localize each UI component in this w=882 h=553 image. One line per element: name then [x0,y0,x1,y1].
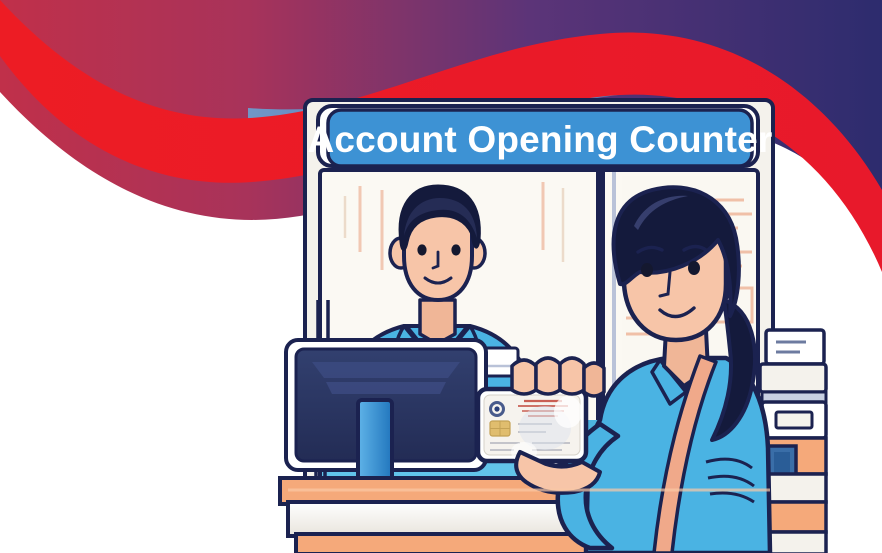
signboard-title: Account Opening Counter [307,119,772,160]
national-id-card [478,389,586,462]
teller-eye-right [451,244,460,255]
id-emblem-icon [489,401,505,417]
customer-fingers [512,358,604,396]
monitor-back-ridge-2 [326,382,446,394]
scene-svg: Account Opening Counter [0,0,882,553]
illustration-canvas: Account Opening Counter [0,0,882,553]
customer-eye-right [688,261,700,275]
teller-neck [420,300,455,344]
teller-eye-left [417,244,426,255]
monitor-stand [358,400,392,486]
monitor-back-ridge [312,362,460,378]
customer-eye-left [641,263,653,277]
id-glare [554,396,582,428]
